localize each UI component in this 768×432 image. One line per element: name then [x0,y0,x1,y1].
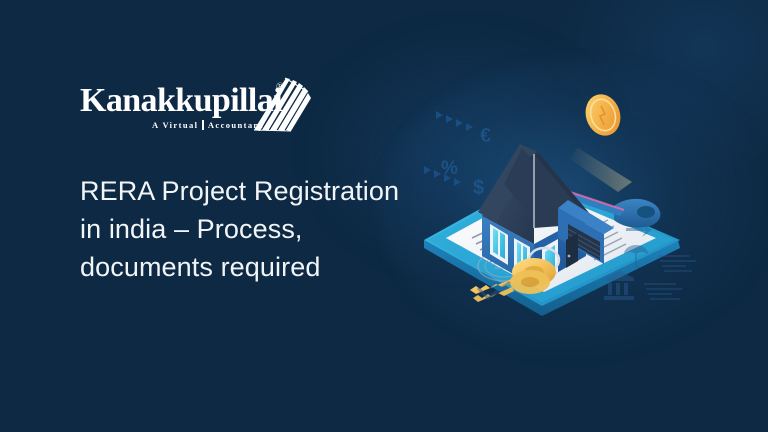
svg-text:€: € [480,125,491,147]
sidenote-lines-1 [658,256,696,271]
sidenote-lines-2 [644,284,682,299]
hero-illustration: € € % $ [418,88,768,338]
headline-line-1: RERA Project Registration [80,172,440,210]
logo-tagline-part2: Accountant [208,120,264,130]
page-title: RERA Project Registration in india – Pro… [80,172,440,286]
logo-tagline-divider [202,120,204,130]
registered-trademark-icon: ® [276,82,284,93]
currency-symbols-group: € € % $ [424,111,491,199]
headline-line-2: in india – Process, [80,210,440,248]
banner: Kanakkupillai ® A VirtualAccountant RERA… [0,0,768,432]
coin [568,90,632,192]
logo-tagline-part1: A Virtual [152,120,198,130]
arrow-trail-top [436,111,473,131]
logo-tagline: A VirtualAccountant [152,120,264,130]
percent-symbol: % [441,158,458,179]
headline-line-3: documents required [80,248,440,286]
brand-logo[interactable]: Kanakkupillai ® A VirtualAccountant [80,78,295,140]
dollar-symbol: $ [473,177,484,199]
